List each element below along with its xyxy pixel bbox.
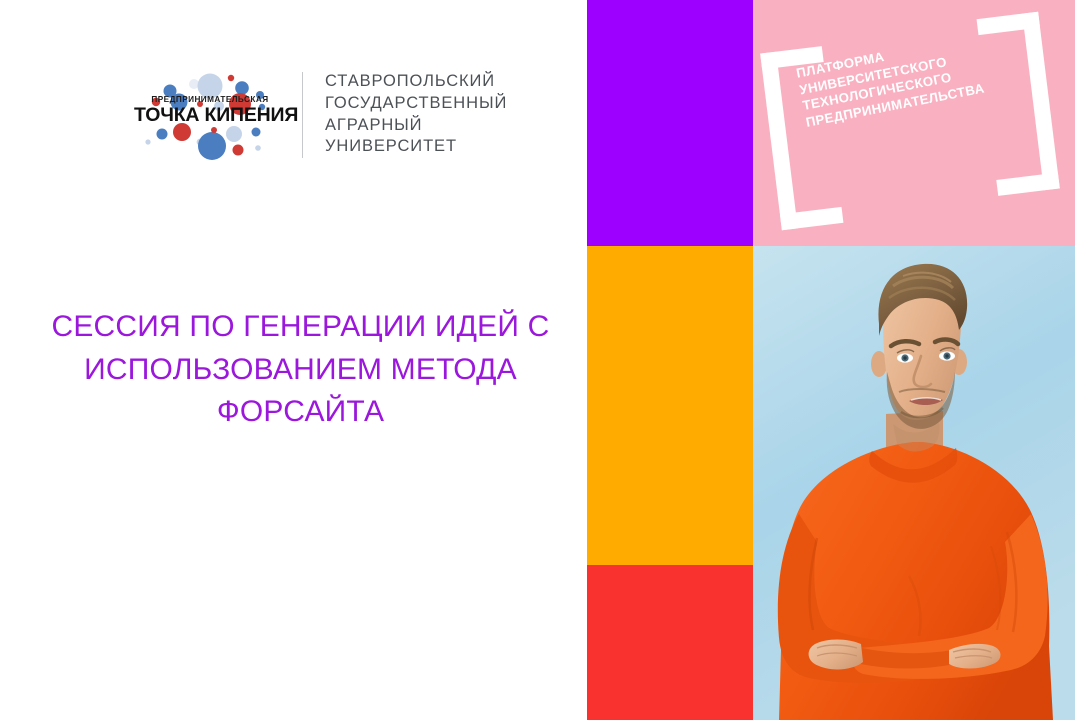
person-photo [753, 246, 1075, 720]
pink-panel: ПЛАТФОРМА УНИВЕРСИТЕТСКОГО ТЕХНОЛОГИЧЕСК… [753, 0, 1075, 246]
purple-block [587, 0, 753, 246]
logo-divider [302, 72, 303, 158]
photo-panel [753, 246, 1075, 720]
logo-big-label: ТОЧКА КИПЕНИЯ [134, 106, 286, 126]
red-block [587, 565, 753, 720]
slide-title: СЕССИЯ ПО ГЕНЕРАЦИИ ИДЕЙ С ИСПОЛЬЗОВАНИЕ… [28, 306, 573, 434]
logo-block: ПРЕДПРИНИМАТЕЛЬСКАЯ ТОЧКА КИПЕНИЯ СТАВРО… [134, 62, 507, 167]
university-name: СТАВРОПОЛЬСКИЙ ГОСУДАРСТВЕННЫЙ АГРАРНЫЙ … [325, 71, 507, 158]
tochka-kipeniya-wordmark: ПРЕДПРИНИМАТЕЛЬСКАЯ ТОЧКА КИПЕНИЯ [134, 96, 286, 126]
bracket-left-icon [760, 52, 798, 231]
orange-block [587, 246, 753, 565]
logo-small-label: ПРЕДПРИНИМАТЕЛЬСКАЯ [134, 96, 286, 104]
platform-tagline: ПЛАТФОРМА УНИВЕРСИТЕТСКОГО ТЕХНОЛОГИЧЕСК… [795, 14, 1073, 131]
presentation-slide: ПРЕДПРИНИМАТЕЛЬСКАЯ ТОЧКА КИПЕНИЯ СТАВРО… [0, 0, 1075, 720]
tochka-kipeniya-logo: ПРЕДПРИНИМАТЕЛЬСКАЯ ТОЧКА КИПЕНИЯ [134, 62, 286, 167]
